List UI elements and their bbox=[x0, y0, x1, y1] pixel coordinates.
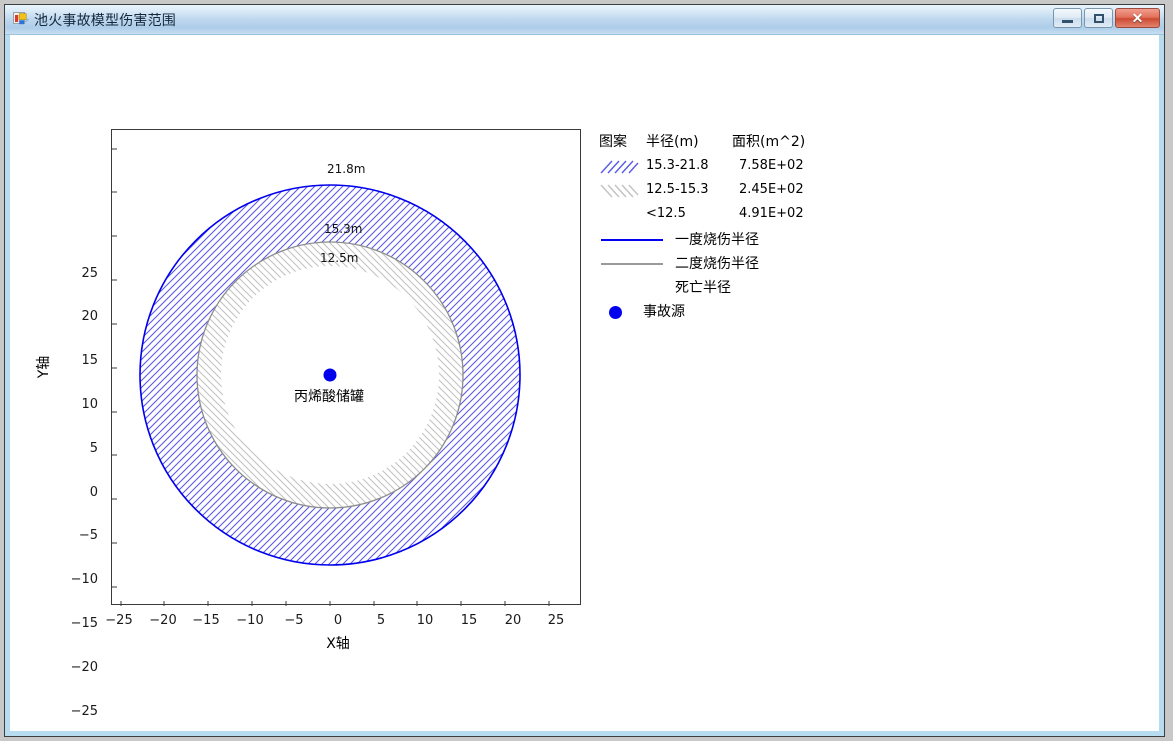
x-tick-label: −10 bbox=[228, 613, 272, 628]
y-tick-label: −10 bbox=[54, 572, 98, 587]
y-tick-label: 15 bbox=[54, 353, 98, 368]
legend-line-label: 一度烧伤半径 bbox=[675, 229, 759, 249]
ring-label-outer: 21.8m bbox=[327, 162, 365, 176]
legend-line-label: 死亡半径 bbox=[675, 277, 731, 297]
y-axis-title: Y轴 bbox=[33, 347, 53, 387]
legend-line-label: 二度烧伤半径 bbox=[675, 253, 759, 273]
legend-marker-label: 事故源 bbox=[643, 301, 685, 321]
legend-header-pattern: 图案 bbox=[599, 131, 627, 151]
accident-source-label: 丙烯酸储罐 bbox=[294, 386, 364, 406]
accident-source-marker bbox=[324, 369, 337, 382]
dot-swatch-blue-icon bbox=[609, 306, 622, 319]
legend-radius-value: 15.3-21.8 bbox=[646, 158, 709, 173]
damage-range-figure: Y轴 25 20 15 10 5 0 −5 −10 −15 −20 −25 −2… bbox=[10, 35, 1159, 731]
maximize-icon bbox=[1094, 14, 1104, 23]
client-area: Y轴 25 20 15 10 5 0 −5 −10 −15 −20 −25 −2… bbox=[10, 35, 1159, 731]
x-tick-label: 15 bbox=[447, 613, 491, 628]
legend-line-row: 一度烧伤半径 bbox=[599, 228, 849, 252]
close-icon: ✕ bbox=[1132, 11, 1144, 25]
legend-area-value: 7.58E+02 bbox=[739, 158, 804, 173]
application-window: 池火事故模型伤害范围 ✕ Y轴 25 20 15 bbox=[4, 4, 1165, 737]
x-axis-title: X轴 bbox=[316, 633, 360, 653]
y-tick-label: −5 bbox=[54, 528, 98, 543]
minimize-button[interactable] bbox=[1053, 8, 1082, 28]
legend-radius-value: 12.5-15.3 bbox=[646, 182, 709, 197]
x-tick-label: 5 bbox=[359, 613, 403, 628]
legend-row: 15.3-21.8 7.58E+02 bbox=[599, 156, 849, 180]
y-tick-label: 20 bbox=[54, 309, 98, 324]
title-bar[interactable]: 池火事故模型伤害范围 ✕ bbox=[5, 5, 1164, 35]
y-tick-label: 0 bbox=[54, 485, 98, 500]
hatch-swatch-blue-icon bbox=[599, 159, 639, 174]
legend-line-row: 二度烧伤半径 bbox=[599, 252, 849, 276]
legend-area-value: 2.45E+02 bbox=[739, 182, 804, 197]
x-tick-label: −25 bbox=[97, 613, 141, 628]
x-tick-label: 25 bbox=[534, 613, 578, 628]
y-tick-label: −15 bbox=[54, 616, 98, 631]
line-swatch-blue-icon bbox=[601, 239, 663, 241]
x-tick-label: −15 bbox=[184, 613, 228, 628]
hatch-swatch-gray-icon bbox=[599, 183, 639, 198]
ring-label-middle: 15.3m bbox=[324, 222, 362, 236]
ring-label-inner: 12.5m bbox=[320, 251, 358, 265]
maximize-button[interactable] bbox=[1084, 8, 1113, 28]
legend-header-radius: 半径(m) bbox=[646, 131, 699, 151]
y-tick-label: 10 bbox=[54, 397, 98, 412]
screen: 池火事故模型伤害范围 ✕ Y轴 25 20 15 bbox=[0, 0, 1173, 741]
y-tick-label: 5 bbox=[54, 441, 98, 456]
legend-marker-row: 事故源 bbox=[599, 300, 849, 324]
winforms-app-icon bbox=[13, 12, 29, 28]
y-tick-label: −25 bbox=[54, 704, 98, 719]
legend-row: 12.5-15.3 2.45E+02 bbox=[599, 180, 849, 204]
x-tick-label: 10 bbox=[403, 613, 447, 628]
x-tick-label: 0 bbox=[316, 613, 360, 628]
legend-area-value: 4.91E+02 bbox=[739, 206, 804, 221]
legend-row: <12.5 4.91E+02 bbox=[599, 204, 849, 228]
legend-header-area: 面积(m^2) bbox=[732, 131, 805, 151]
minimize-icon bbox=[1062, 20, 1073, 23]
legend-radius-value: <12.5 bbox=[646, 206, 686, 221]
close-button[interactable]: ✕ bbox=[1115, 8, 1160, 28]
x-tick-label: −20 bbox=[141, 613, 185, 628]
x-tick-label: 20 bbox=[491, 613, 535, 628]
plot-area: 21.8m 15.3m 12.5m 丙烯酸储罐 bbox=[111, 129, 581, 605]
window-controls: ✕ bbox=[1053, 8, 1160, 28]
legend-header-row: 图案 半径(m) 面积(m^2) bbox=[599, 131, 849, 156]
window-title: 池火事故模型伤害范围 bbox=[34, 10, 176, 30]
damage-rings-plot bbox=[112, 130, 582, 606]
x-tick-label: −5 bbox=[272, 613, 316, 628]
y-tick-label: 25 bbox=[54, 266, 98, 281]
y-tick-label: −20 bbox=[54, 660, 98, 675]
legend: 图案 半径(m) 面积(m^2) bbox=[599, 131, 849, 324]
line-swatch-gray-icon bbox=[601, 263, 663, 265]
legend-line-row: 死亡半径 bbox=[599, 276, 849, 300]
